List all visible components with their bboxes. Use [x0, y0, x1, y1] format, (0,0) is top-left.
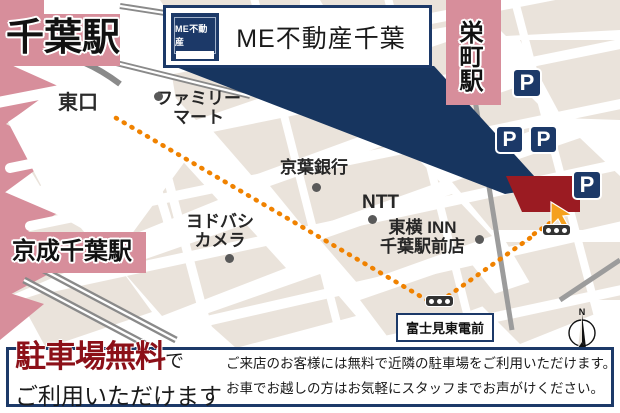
parking-icon-4-label: P — [580, 172, 595, 198]
poi-yodobashi-dot — [225, 254, 234, 263]
traffic-signal-icon-2 — [425, 295, 454, 307]
poi-familymart-line1: ファミリー — [156, 89, 241, 108]
poi-toyoko-inn-label: 東横 INN 千葉駅前店 — [380, 218, 465, 256]
poi-familymart-dot — [154, 92, 163, 101]
banner-headline-tail: で — [165, 351, 184, 372]
poi-yodobashi-line1: ヨドバシ — [186, 212, 254, 231]
poi-keiyo-bank-line1: 京葉銀行 — [280, 158, 348, 177]
parking-icon-3[interactable]: P — [529, 125, 558, 154]
banner-note-line1: ご来店のお客様には無料で近隣の駐車場をご利用いただけます。 — [226, 352, 616, 377]
poi-familymart-line2: マート — [173, 108, 224, 127]
banner-headline-line2: ご利用いただけます — [15, 377, 222, 411]
compass-rose-icon: N — [562, 306, 602, 352]
banner-headline: 駐車場無料で ご利用いただけます — [9, 343, 222, 411]
poi-keiyo-bank-dot — [312, 183, 321, 192]
company-logo-banner: ME不動産 ME不動産千葉 — [163, 5, 432, 68]
poi-toyoko-inn-dot — [475, 235, 484, 244]
poi-ntt-line1: NTT — [362, 192, 399, 213]
poi-yodobashi-label: ヨドバシ カメラ — [186, 212, 254, 250]
poi-ntt-label: NTT — [362, 192, 399, 213]
parking-free-banner: 駐車場無料で ご利用いただけます ご来店のお客様には無料で近隣の駐車場をご利用い… — [6, 347, 614, 407]
traffic-signal-icon-1 — [542, 224, 571, 236]
company-logo-mark-bar — [176, 51, 214, 58]
parking-icon-1-label: P — [520, 70, 535, 96]
company-logo-mark: ME不動産 — [171, 13, 219, 61]
parking-icon-2-label: P — [502, 128, 516, 152]
banner-headline-line1: 駐車場無料で — [15, 331, 222, 376]
parking-icon-2[interactable]: P — [495, 125, 524, 154]
banner-note-line2: お車でお越しの方はお気軽にスタッフまでお声がけください。 — [226, 377, 616, 402]
company-logo-mark-text: ME不動産 — [175, 22, 215, 48]
station-label-keisei-chiba: 京成千葉駅 — [12, 240, 132, 264]
banner-note: ご来店のお客様には無料で近隣の駐車場をご利用いただけます。 お車でお越しの方はお… — [222, 352, 616, 402]
poi-yodobashi-line2: カメラ — [195, 231, 246, 250]
poi-toyoko-inn-line2: 千葉駅前店 — [380, 237, 465, 256]
company-logo-title: ME不動産千葉 — [219, 19, 429, 55]
banner-headline-strong: 駐車場無料 — [15, 339, 165, 374]
company-logo-mark-frame: ME不動産 — [174, 17, 216, 55]
poi-toyoko-inn-line1: 東横 INN — [389, 218, 457, 237]
poi-ntt-dot — [368, 215, 377, 224]
parking-icon-1[interactable]: P — [512, 68, 542, 98]
map-label-east-exit: 東口 — [58, 93, 98, 115]
station-label-chiba: 千葉駅 — [6, 19, 120, 57]
parking-icon-3-label: P — [536, 128, 550, 152]
crossing-name-box: 富士見東電前 — [396, 313, 494, 342]
map-graphic: 千葉駅 京成千葉駅 栄町駅 東口 ファミリー マート 京葉銀行 ヨドバシ カメラ… — [0, 0, 620, 413]
poi-familymart-label: ファミリー マート — [156, 89, 241, 127]
poi-keiyo-bank-label: 京葉銀行 — [280, 158, 348, 177]
parking-icon-4[interactable]: P — [572, 170, 602, 200]
station-label-sakaecho: 栄町駅 — [456, 20, 480, 92]
